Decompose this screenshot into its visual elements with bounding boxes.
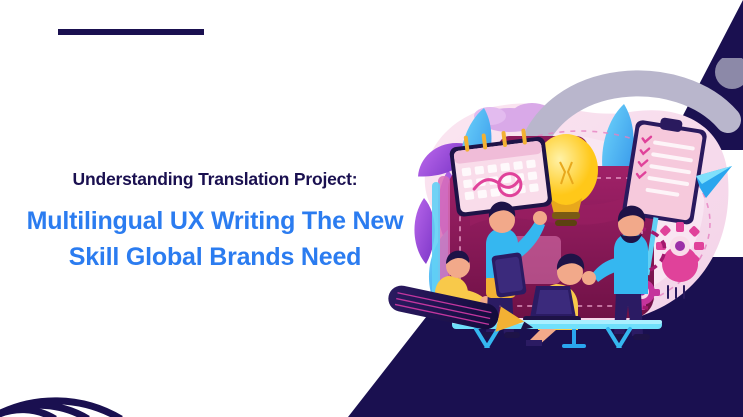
headline-line-1: Multilingual UX Writing The New	[27, 207, 404, 235]
tablet-icon	[491, 252, 527, 298]
corner-arcs-decoration	[0, 289, 158, 417]
headline-line-2: Skill Global Brands Need	[69, 243, 362, 271]
promo-banner: Understanding Translation Project: Multi…	[0, 0, 743, 417]
top-accent-bar	[58, 29, 204, 35]
team-collaboration-illustration	[380, 58, 743, 348]
eyebrow-text: Understanding Translation Project:	[0, 168, 430, 191]
banner-text-block: Understanding Translation Project: Multi…	[0, 168, 430, 275]
page-title: Multilingual UX Writing The New Skill Gl…	[0, 203, 430, 276]
